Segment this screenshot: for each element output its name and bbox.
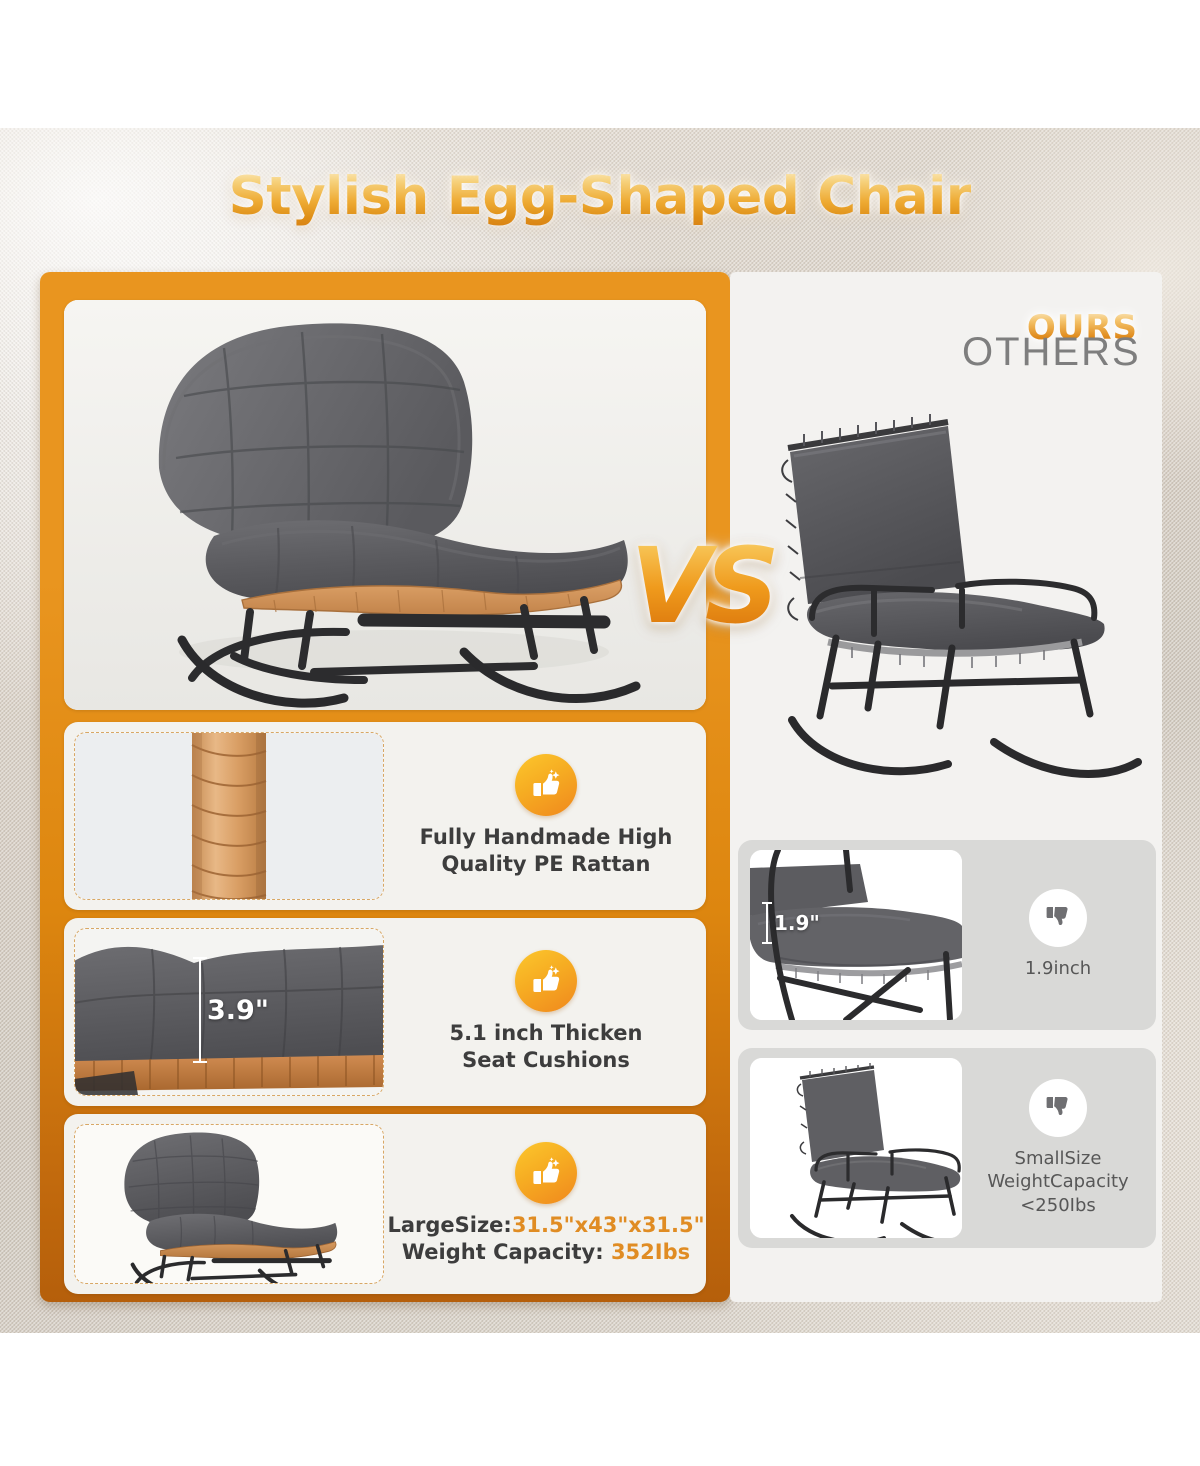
ours-feature-content-rattan: Fully Handmade High Quality PE Rattan: [394, 722, 698, 910]
spec-value: 31.5"x43"x31.5": [512, 1213, 705, 1237]
others-card-size: SmallSize WeightCapacity <250Ibs: [738, 1048, 1156, 1248]
thumbs-down-icon: [1029, 1079, 1087, 1137]
full-chair-photo: [74, 1124, 384, 1284]
dimension-line: [766, 902, 768, 944]
cushion-thickness-photo: 3.9": [74, 928, 384, 1096]
feature-line: 5.1 inch Thicken: [450, 1020, 643, 1047]
ours-hero-card: [64, 300, 706, 710]
feature-line: Fully Handmade High: [420, 824, 673, 851]
ours-feature-card-cushion: 3.9" 5.1 inch Thicken Seat Cushions: [64, 918, 706, 1106]
others-hero-photo: [752, 390, 1152, 790]
others-line: SmallSize: [987, 1147, 1128, 1170]
page-title: Stylish Egg-Shaped Chair: [229, 166, 972, 227]
thumbs-up-icon: [515, 1142, 577, 1204]
ours-hero-photo: [64, 300, 706, 710]
vs-badge: VS: [612, 518, 792, 653]
others-line: WeightCapacity: [987, 1170, 1128, 1193]
ours-feature-content-size: LargeSize:31.5"x43"x31.5" Weight Capacit…: [394, 1114, 698, 1294]
rattan-closeup-photo: [74, 732, 384, 900]
others-chair-photo: [750, 1058, 962, 1238]
others-text-size: SmallSize WeightCapacity <250Ibs: [987, 1147, 1128, 1217]
spec-label: Weight Capacity:: [402, 1240, 611, 1264]
dimension-value: 3.9": [207, 995, 269, 1026]
thumbs-up-icon: [515, 754, 577, 816]
others-line: <250Ibs: [987, 1194, 1128, 1217]
feature-line: Seat Cushions: [450, 1047, 643, 1074]
ours-feature-text-size: LargeSize:31.5"x43"x31.5" Weight Capacit…: [387, 1212, 704, 1266]
ours-feature-content-cushion: 5.1 inch Thicken Seat Cushions: [394, 918, 698, 1106]
others-card-thickness: 1.9" 1.9inch: [738, 840, 1156, 1030]
spec-row-size: LargeSize:31.5"x43"x31.5": [387, 1212, 704, 1239]
ours-feature-card-rattan: Fully Handmade High Quality PE Rattan: [64, 722, 706, 910]
dimension-line: [199, 957, 201, 1063]
ours-feature-card-size: LargeSize:31.5"x43"x31.5" Weight Capacit…: [64, 1114, 706, 1294]
ours-feature-text-rattan: Fully Handmade High Quality PE Rattan: [420, 824, 673, 878]
others-card-content-size: SmallSize WeightCapacity <250Ibs: [966, 1048, 1150, 1248]
thumbs-up-icon: [515, 950, 577, 1012]
others-label: OTHERS: [962, 330, 1141, 375]
page-title-area: Stylish Egg-Shaped Chair: [0, 160, 1200, 232]
spec-row-weight: Weight Capacity: 352Ibs: [387, 1239, 704, 1266]
infographic-page: Stylish Egg-Shaped Chair: [0, 0, 1200, 1466]
dimension-value: 1.9": [774, 911, 820, 935]
cushion-dimension-callout: 3.9": [199, 957, 269, 1063]
ours-feature-text-cushion: 5.1 inch Thicken Seat Cushions: [450, 1020, 643, 1074]
spec-value: 352Ibs: [611, 1240, 690, 1264]
others-text-thickness: 1.9inch: [1025, 957, 1091, 980]
spec-label: LargeSize:: [387, 1213, 511, 1237]
others-cushion-photo: 1.9": [750, 850, 962, 1020]
feature-line: Quality PE Rattan: [420, 851, 673, 878]
others-line: 1.9inch: [1025, 957, 1091, 980]
others-card-content-thickness: 1.9inch: [966, 840, 1150, 1030]
others-dimension-callout: 1.9": [766, 902, 820, 944]
thumbs-down-icon: [1029, 889, 1087, 947]
